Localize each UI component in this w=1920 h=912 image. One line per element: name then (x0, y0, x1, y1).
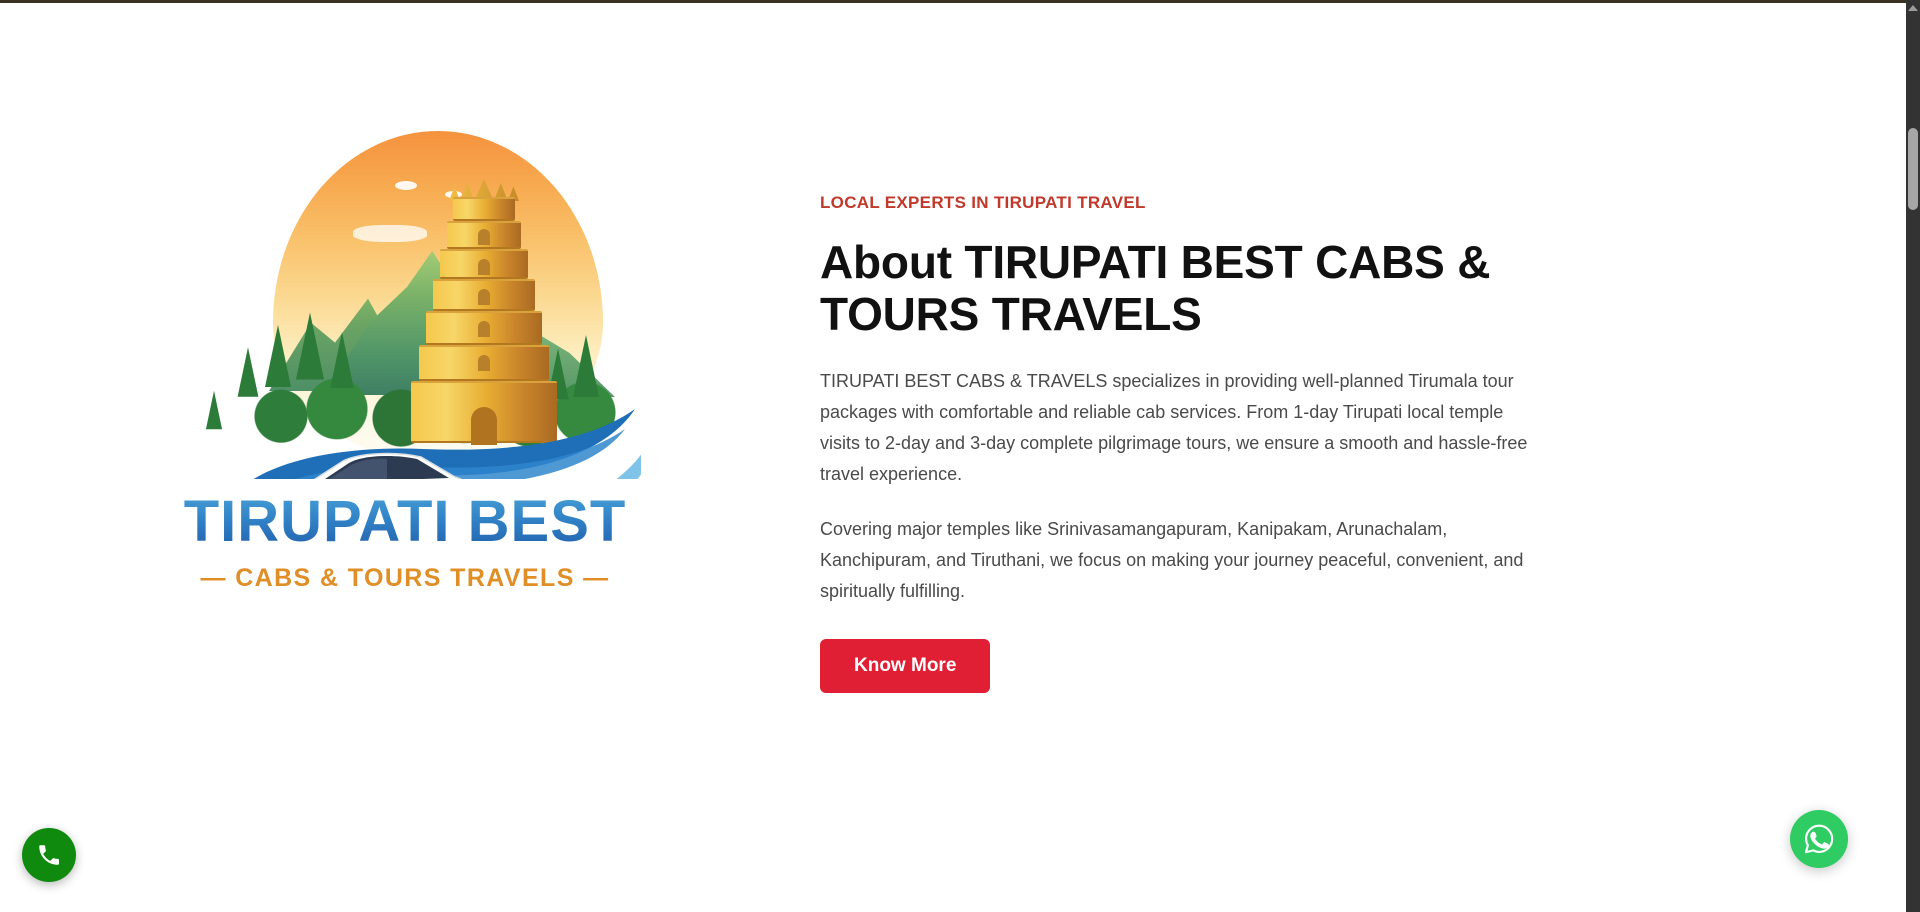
about-paragraph-2: Covering major temples like Srinivasaman… (820, 514, 1532, 607)
gopuram-window (478, 259, 490, 275)
about-eyebrow: LOCAL EXPERTS IN TIRUPATI TRAVEL (820, 193, 1580, 213)
call-now-button[interactable] (22, 828, 76, 882)
scroll-up-arrow-icon[interactable] (1908, 5, 1918, 11)
pine-tree-icon (265, 325, 291, 387)
gopuram-window (478, 289, 490, 305)
about-logo-column: TIRUPATI BEST — CABS & TOURS TRAVELS — (0, 129, 820, 599)
know-more-button[interactable]: Know More (820, 639, 990, 693)
gopuram-tier (453, 197, 515, 221)
about-section: TIRUPATI BEST — CABS & TOURS TRAVELS — L… (0, 129, 1906, 693)
about-paragraph-1: TIRUPATI BEST CABS & TRAVELS specializes… (820, 366, 1532, 490)
about-heading: About TIRUPATI BEST CABS & TOURS TRAVELS (820, 237, 1520, 340)
road-swoosh-and-car (173, 405, 641, 479)
scrollbar-thumb[interactable] (1908, 128, 1918, 210)
page-scrollbar[interactable] (1906, 0, 1920, 912)
pine-tree-icon (238, 347, 259, 397)
pine-tree-icon (330, 332, 353, 388)
logo-illustration (173, 129, 641, 479)
gopuram-window (478, 229, 490, 245)
logo-tagline: — CABS & TOURS TRAVELS — (125, 564, 685, 593)
pine-tree-icon (573, 335, 599, 397)
gopuram-window (478, 355, 490, 371)
pine-tree-icon (296, 313, 324, 380)
company-logo: TIRUPATI BEST — CABS & TOURS TRAVELS — (125, 129, 685, 599)
gopuram-window (478, 321, 490, 337)
whatsapp-chat-button[interactable] (1790, 810, 1848, 868)
logo-wordmark: TIRUPATI BEST (125, 488, 685, 555)
phone-icon (36, 842, 62, 868)
whatsapp-icon (1801, 821, 1837, 857)
about-text-column: LOCAL EXPERTS IN TIRUPATI TRAVEL About T… (820, 129, 1580, 693)
page-content: TIRUPATI BEST — CABS & TOURS TRAVELS — L… (0, 3, 1906, 912)
browser-viewport: TIRUPATI BEST — CABS & TOURS TRAVELS — L… (0, 0, 1920, 912)
